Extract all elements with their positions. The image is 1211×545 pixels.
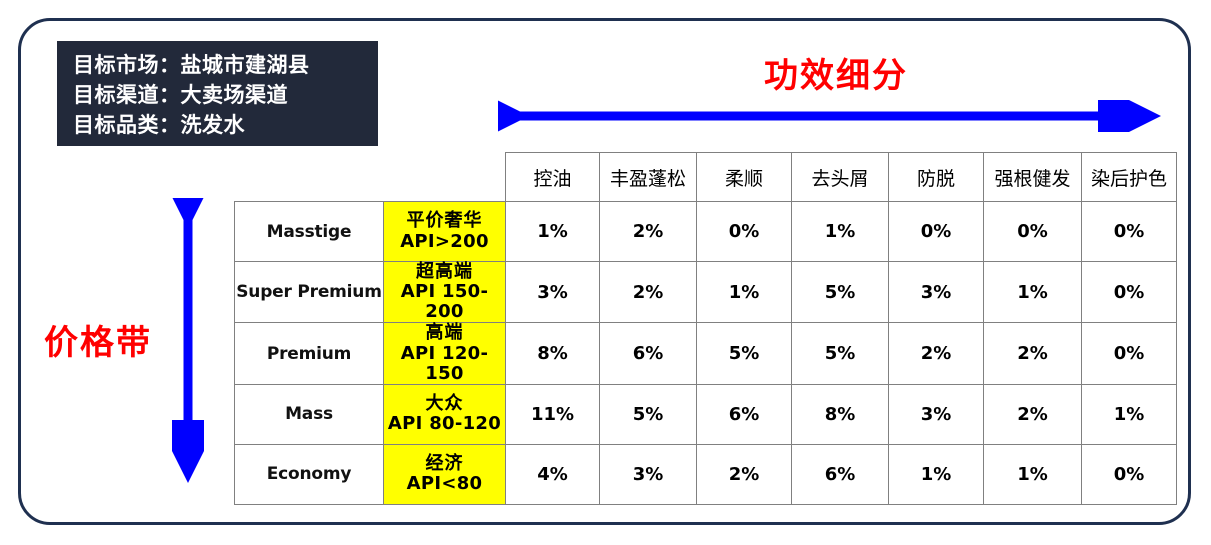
api-label-cn: 经济	[384, 454, 505, 474]
share-value-cell: 1%	[984, 444, 1082, 504]
api-range-cell: 平价奢华API>200	[384, 202, 506, 262]
table-row: Mass大众API 80-12011%5%6%8%3%2%1%	[235, 384, 1177, 444]
share-value-cell: 3%	[889, 262, 984, 323]
matrix-header-row: 控油丰盈蓬松柔顺去头屑防脱强根健发染后护色	[235, 153, 1177, 202]
column-header-efficacy: 丰盈蓬松	[600, 153, 697, 202]
share-value-cell: 11%	[506, 384, 600, 444]
table-row: Masstige平价奢华API>2001%2%0%1%0%0%0%	[235, 202, 1177, 262]
share-value-cell: 2%	[984, 384, 1082, 444]
share-value-cell: 0%	[1082, 262, 1177, 323]
share-value-cell: 8%	[792, 384, 889, 444]
api-range-code: API 150-200	[384, 282, 505, 322]
api-label-cn: 大众	[384, 394, 505, 414]
share-value-cell: 0%	[697, 202, 792, 262]
table-row: Premium高端API 120-1508%6%5%5%2%2%0%	[235, 323, 1177, 384]
target-market-line: 目标市场：盐城市建湖县	[73, 50, 378, 80]
api-label-cn: 超高端	[384, 262, 505, 282]
target-channel-line: 目标渠道：大卖场渠道	[73, 80, 378, 110]
api-range-code: API 120-150	[384, 344, 505, 384]
share-value-cell: 0%	[1082, 202, 1177, 262]
share-value-cell: 1%	[1082, 384, 1177, 444]
column-header-efficacy: 染后护色	[1082, 153, 1177, 202]
share-value-cell: 4%	[506, 444, 600, 504]
api-range-code: API<80	[384, 474, 505, 494]
column-header-efficacy: 控油	[506, 153, 600, 202]
share-value-cell: 1%	[792, 202, 889, 262]
api-range-code: API 80-120	[384, 414, 505, 434]
share-value-cell: 0%	[984, 202, 1082, 262]
share-value-cell: 5%	[600, 384, 697, 444]
api-range-cell: 经济API<80	[384, 444, 506, 504]
price-efficacy-matrix: 控油丰盈蓬松柔顺去头屑防脱强根健发染后护色Masstige平价奢华API>200…	[234, 152, 1177, 505]
tier-name-cell: Economy	[235, 444, 384, 504]
share-value-cell: 6%	[792, 444, 889, 504]
share-value-cell: 6%	[600, 323, 697, 384]
share-value-cell: 2%	[600, 262, 697, 323]
efficacy-axis-title: 功效细分	[500, 48, 1172, 97]
price-band-axis-title: 价格带	[28, 315, 168, 364]
share-value-cell: 3%	[600, 444, 697, 504]
share-value-cell: 0%	[889, 202, 984, 262]
table-row: Economy经济API<804%3%2%6%1%1%0%	[235, 444, 1177, 504]
tier-name-cell: Premium	[235, 323, 384, 384]
matrix-corner-tier	[235, 153, 384, 202]
share-value-cell: 3%	[889, 384, 984, 444]
share-value-cell: 6%	[697, 384, 792, 444]
column-header-efficacy: 去头屑	[792, 153, 889, 202]
target-info-box: 目标市场：盐城市建湖县 目标渠道：大卖场渠道 目标品类：洗发水	[57, 41, 378, 146]
column-header-efficacy: 柔顺	[697, 153, 792, 202]
tier-name-cell: Super Premium	[235, 262, 384, 323]
api-range-cell: 大众API 80-120	[384, 384, 506, 444]
column-header-efficacy: 防脱	[889, 153, 984, 202]
share-value-cell: 2%	[697, 444, 792, 504]
share-value-cell: 1%	[697, 262, 792, 323]
share-value-cell: 1%	[889, 444, 984, 504]
share-value-cell: 1%	[506, 202, 600, 262]
share-value-cell: 2%	[600, 202, 697, 262]
table-row: Super Premium超高端API 150-2003%2%1%5%3%1%0…	[235, 262, 1177, 323]
tier-name-cell: Masstige	[235, 202, 384, 262]
api-label-cn: 平价奢华	[384, 211, 505, 231]
target-category-line: 目标品类：洗发水	[73, 110, 378, 140]
share-value-cell: 5%	[792, 262, 889, 323]
share-value-cell: 0%	[1082, 323, 1177, 384]
matrix-corner-api	[384, 153, 506, 202]
vertical-double-arrow-icon	[172, 198, 204, 496]
share-value-cell: 8%	[506, 323, 600, 384]
api-range-code: API>200	[384, 232, 505, 252]
share-value-cell: 3%	[506, 262, 600, 323]
api-label-cn: 高端	[384, 323, 505, 343]
share-value-cell: 0%	[1082, 444, 1177, 504]
horizontal-double-arrow-icon	[498, 100, 1174, 132]
api-range-cell: 高端API 120-150	[384, 323, 506, 384]
share-value-cell: 5%	[697, 323, 792, 384]
column-header-efficacy: 强根健发	[984, 153, 1082, 202]
tier-name-cell: Mass	[235, 384, 384, 444]
share-value-cell: 2%	[889, 323, 984, 384]
share-value-cell: 1%	[984, 262, 1082, 323]
api-range-cell: 超高端API 150-200	[384, 262, 506, 323]
share-value-cell: 2%	[984, 323, 1082, 384]
share-value-cell: 5%	[792, 323, 889, 384]
